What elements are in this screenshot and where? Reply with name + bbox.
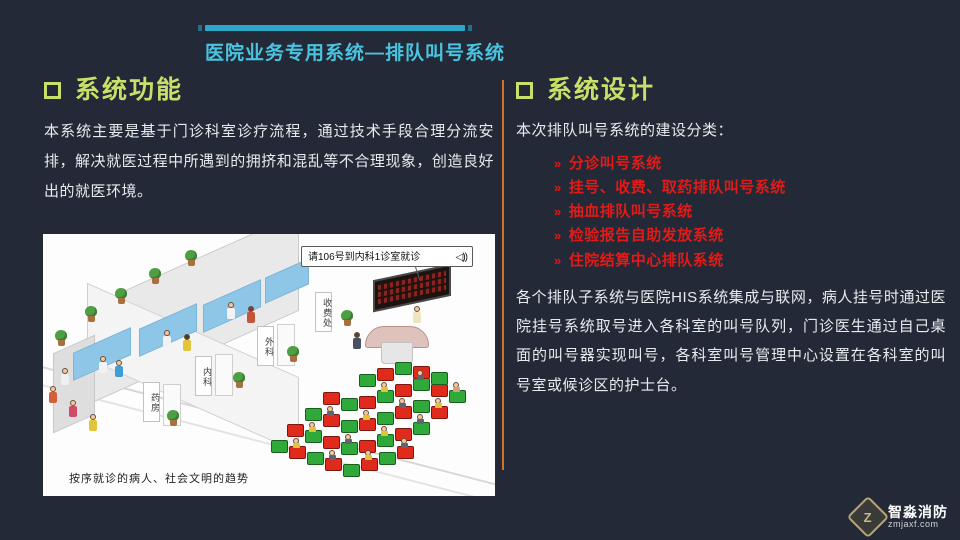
room-sign: 收费处 (315, 292, 332, 332)
seat (343, 464, 360, 477)
seated-person (381, 382, 388, 392)
column-divider (502, 80, 504, 470)
doctor-figure (99, 356, 107, 373)
seat (377, 368, 394, 381)
page-title: 医院业务专用系统—排队叫号系统 (205, 38, 805, 65)
body (163, 336, 171, 347)
logo-mark-letter: Z (864, 509, 872, 524)
seat (341, 420, 358, 433)
seat (271, 440, 288, 453)
illustration-scene: 药房 内科 外科 收费处 (43, 234, 495, 496)
subsystem-list: » 分诊叫号系统 » 挂号、收费、取药排队叫号系统 » 抽血排队叫号系统 » 检… (516, 152, 946, 273)
body (115, 366, 123, 377)
logo-brand-name: 智淼消防 (888, 505, 948, 520)
visitor-figure (353, 332, 361, 349)
list-item: » 住院结算中心排队系统 (554, 249, 946, 273)
seated-person (453, 382, 460, 392)
square-bullet-icon (516, 82, 533, 99)
room-door (215, 354, 233, 396)
list-item: » 抽血排队叫号系统 (554, 200, 946, 224)
nurse-figure (413, 306, 421, 323)
room-sign: 内科 (195, 356, 212, 396)
seated-person (363, 410, 370, 420)
seat (395, 384, 412, 397)
left-column: 系统功能 本系统主要是基于门诊科室诊疗流程，通过技术手段合理分流安排，解决就医过… (44, 78, 494, 207)
slide-root: 医院业务专用系统—排队叫号系统 系统功能 本系统主要是基于门诊科室诊疗流程，通过… (0, 0, 960, 540)
doctor-figure (163, 330, 171, 347)
seat (379, 452, 396, 465)
seated-person (293, 438, 300, 448)
patient-figure (247, 306, 255, 323)
seated-person (401, 438, 408, 448)
potted-plant (167, 410, 179, 426)
seat (359, 374, 376, 387)
seated-person (329, 450, 336, 460)
list-item: » 挂号、收费、取药排队叫号系统 (554, 176, 946, 200)
list-item-label: 检验报告自助发放系统 (569, 224, 724, 248)
seat (341, 398, 358, 411)
body (183, 340, 191, 351)
seated-person (417, 414, 424, 424)
list-item-label: 分诊叫号系统 (569, 152, 662, 176)
seated-person (381, 426, 388, 436)
logo-text-block: 智淼消防 zmjaxf.com (888, 505, 948, 529)
left-paragraph: 本系统主要是基于门诊科室诊疗流程，通过技术手段合理分流安排，解决就医过程中所遇到… (44, 117, 494, 207)
potted-plant (85, 306, 97, 322)
list-item-label: 挂号、收费、取药排队叫号系统 (569, 176, 786, 200)
queue-person (89, 414, 97, 431)
announcement-bubble: 请106号到内科1诊室就诊 ◁)) (301, 246, 473, 267)
title-accent-bar (205, 25, 465, 31)
chevron-right-icon: » (554, 201, 562, 222)
seat (431, 372, 448, 385)
seat (359, 396, 376, 409)
seat (377, 412, 394, 425)
right-section-title: 系统设计 (547, 78, 655, 103)
chevron-right-icon: » (554, 153, 562, 174)
speaker-icon: ◁)) (456, 247, 467, 268)
seated-person (417, 370, 424, 380)
queue-person (49, 386, 57, 403)
potted-plant (287, 346, 299, 362)
potted-plant (115, 288, 127, 304)
desk-base (381, 342, 413, 364)
patient-figure (183, 334, 191, 351)
right-column: 系统设计 本次排队叫号系统的建设分类： » 分诊叫号系统 » 挂号、收费、取药排… (516, 78, 946, 400)
seated-person (309, 422, 316, 432)
body (247, 312, 255, 323)
seated-person (365, 450, 372, 460)
potted-plant (149, 268, 161, 284)
queue-person (69, 400, 77, 417)
left-section-title: 系统功能 (75, 78, 183, 103)
right-lead-text: 本次排队叫号系统的建设分类： (516, 117, 946, 146)
chevron-right-icon: » (554, 250, 562, 271)
potted-plant (55, 330, 67, 346)
right-tail-paragraph: 各个排队子系统与医院HIS系统集成与联网，病人挂号时通过医院挂号系统取号进入各科… (516, 283, 946, 400)
announcement-text: 请106号到内科1诊室就诊 (308, 252, 420, 263)
waiting-area-seats (271, 362, 493, 480)
logo-url: zmjaxf.com (888, 520, 948, 529)
body (227, 308, 235, 319)
list-item: » 分诊叫号系统 (554, 152, 946, 176)
reception-desk (365, 326, 427, 360)
potted-plant (185, 250, 197, 266)
seat (323, 392, 340, 405)
seat (287, 424, 304, 437)
list-item: » 检验报告自助发放系统 (554, 224, 946, 248)
seat (431, 384, 448, 397)
seat (323, 436, 340, 449)
chevron-right-icon: » (554, 225, 562, 246)
watermark-logo: Z 智淼消防 zmjaxf.com (853, 502, 948, 532)
patient-figure (115, 360, 123, 377)
seated-person (345, 434, 352, 444)
room-sign: 外科 (257, 326, 274, 366)
right-section-header: 系统设计 (516, 78, 946, 103)
chevron-right-icon: » (554, 177, 562, 198)
list-item-label: 住院结算中心排队系统 (569, 249, 724, 273)
doctor-figure (227, 302, 235, 319)
potted-plant (233, 372, 245, 388)
potted-plant (341, 310, 353, 326)
queue-person (61, 368, 69, 385)
seat (395, 362, 412, 375)
logo-diamond-icon: Z (847, 496, 889, 538)
seat (413, 400, 430, 413)
left-section-header: 系统功能 (44, 78, 494, 103)
list-item-label: 抽血排队叫号系统 (569, 200, 693, 224)
led-queue-board (373, 264, 451, 313)
figure-caption: 按序就诊的病人、社会文明的趋势 (69, 470, 249, 486)
room-sign: 药房 (143, 382, 160, 422)
seat (305, 408, 322, 421)
seated-person (327, 406, 334, 416)
body (99, 362, 107, 373)
seat (307, 452, 324, 465)
seated-person (399, 398, 406, 408)
hospital-illustration: 药房 内科 外科 收费处 (43, 234, 495, 496)
square-bullet-icon (44, 82, 61, 99)
seated-person (435, 398, 442, 408)
